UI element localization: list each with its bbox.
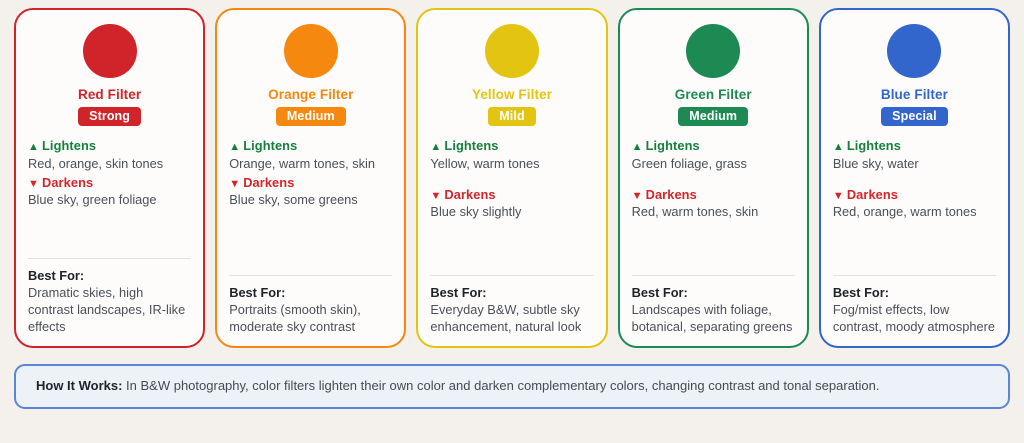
triangle-up-icon: ▲: [833, 141, 844, 153]
effects-section: ▲Lightens Yellow, warm tones ▼Darkens Bl…: [430, 138, 593, 221]
filter-card-orange[interactable]: Orange Filter Medium ▲Lightens Orange, w…: [215, 8, 406, 348]
flex-spacer: [833, 221, 996, 275]
blue-circle-swatch-icon: [887, 24, 941, 78]
lightens-label: Lightens: [847, 138, 901, 153]
darkens-heading: ▼Darkens: [833, 187, 996, 204]
triangle-down-icon: ▼: [833, 190, 844, 202]
darkens-block: ▼Darkens Blue sky, some greens: [229, 175, 392, 210]
lightens-heading: ▲Lightens: [28, 138, 191, 155]
red-circle-swatch-icon: [83, 24, 137, 78]
how-it-works-panel: How It Works: In B&W photography, color …: [14, 364, 1010, 409]
darkens-label: Darkens: [243, 175, 294, 190]
yellow-circle-swatch-icon: [485, 24, 539, 78]
darkens-block: ▼Darkens Blue sky slightly: [430, 187, 593, 222]
flex-spacer: [632, 221, 795, 275]
darkens-label: Darkens: [646, 187, 697, 202]
darkens-label: Darkens: [847, 187, 898, 202]
strength-badge: Strong: [78, 107, 141, 126]
darkens-heading: ▼Darkens: [430, 187, 593, 204]
filter-card-red[interactable]: Red Filter Strong ▲Lightens Red, orange,…: [14, 8, 205, 348]
lightens-heading: ▲Lightens: [430, 138, 593, 155]
triangle-down-icon: ▼: [229, 178, 240, 190]
badge-container: Medium: [632, 107, 795, 126]
darkens-text: Red, orange, warm tones: [833, 204, 996, 221]
best-for-label: Best For:: [833, 285, 996, 301]
triangle-up-icon: ▲: [430, 141, 441, 153]
flex-spacer: [28, 209, 191, 258]
darkens-heading: ▼Darkens: [632, 187, 795, 204]
effects-section: ▲Lightens Red, orange, skin tones ▼Darke…: [28, 138, 191, 209]
how-it-works-text: How It Works: In B&W photography, color …: [36, 377, 990, 395]
best-for-text: Fog/mist effects, low contrast, moody at…: [833, 302, 996, 336]
strength-badge: Medium: [678, 107, 748, 126]
darkens-label: Darkens: [42, 175, 93, 190]
darkens-text: Red, warm tones, skin: [632, 204, 795, 221]
lightens-label: Lightens: [243, 138, 297, 153]
darkens-text: Blue sky slightly: [430, 204, 593, 221]
badge-container: Mild: [430, 107, 593, 126]
badge-container: Medium: [229, 107, 392, 126]
lightens-text: Green foliage, grass: [632, 156, 795, 173]
best-for-text: Landscapes with foliage, botanical, sepa…: [632, 302, 795, 336]
darkens-heading: ▼Darkens: [28, 175, 191, 192]
best-for-text: Everyday B&W, subtle sky enhancement, na…: [430, 302, 593, 336]
how-it-works-heading: How It Works:: [36, 378, 122, 393]
best-for-label: Best For:: [430, 285, 593, 301]
effects-section: ▲Lightens Green foliage, grass ▼Darkens …: [632, 138, 795, 221]
darkens-text: Blue sky, green foliage: [28, 192, 191, 209]
swatch-container: [229, 24, 392, 78]
strength-badge: Special: [881, 107, 947, 126]
filter-comparison-board: Red Filter Strong ▲Lightens Red, orange,…: [0, 0, 1024, 443]
card-divider: [632, 275, 795, 276]
darkens-block: ▼Darkens Blue sky, green foliage: [28, 175, 191, 210]
triangle-up-icon: ▲: [229, 141, 240, 153]
card-divider: [28, 258, 191, 259]
green-circle-swatch-icon: [686, 24, 740, 78]
filter-title: Red Filter: [28, 87, 191, 102]
best-for-label: Best For:: [229, 285, 392, 301]
lightens-heading: ▲Lightens: [833, 138, 996, 155]
darkens-label: Darkens: [444, 187, 495, 202]
filter-title: Blue Filter: [833, 87, 996, 102]
triangle-down-icon: ▼: [632, 190, 643, 202]
filter-title: Yellow Filter: [430, 87, 593, 102]
lightens-text: Orange, warm tones, skin: [229, 156, 392, 173]
effects-section: ▲Lightens Orange, warm tones, skin ▼Dark…: [229, 138, 392, 209]
triangle-up-icon: ▲: [632, 141, 643, 153]
card-divider: [430, 275, 593, 276]
triangle-down-icon: ▼: [28, 178, 39, 190]
darkens-block: ▼Darkens Red, orange, warm tones: [833, 187, 996, 222]
filter-title: Orange Filter: [229, 87, 392, 102]
lightens-label: Lightens: [42, 138, 96, 153]
flex-spacer: [430, 221, 593, 275]
badge-container: Special: [833, 107, 996, 126]
strength-badge: Medium: [276, 107, 346, 126]
orange-circle-swatch-icon: [284, 24, 338, 78]
darkens-heading: ▼Darkens: [229, 175, 392, 192]
lightens-text: Blue sky, water: [833, 156, 996, 173]
filter-title: Green Filter: [632, 87, 795, 102]
best-for-label: Best For:: [632, 285, 795, 301]
best-for-label: Best For:: [28, 268, 191, 284]
strength-badge: Mild: [488, 107, 535, 126]
how-it-works-body: In B&W photography, color filters lighte…: [122, 378, 879, 393]
lightens-label: Lightens: [444, 138, 498, 153]
card-divider: [229, 275, 392, 276]
lightens-text: Red, orange, skin tones: [28, 156, 191, 173]
badge-container: Strong: [28, 107, 191, 126]
filter-card-yellow[interactable]: Yellow Filter Mild ▲Lightens Yellow, war…: [416, 8, 607, 348]
swatch-container: [833, 24, 996, 78]
swatch-container: [632, 24, 795, 78]
effects-section: ▲Lightens Blue sky, water ▼Darkens Red, …: [833, 138, 996, 221]
lightens-text: Yellow, warm tones: [430, 156, 593, 173]
lightens-label: Lightens: [646, 138, 700, 153]
lightens-heading: ▲Lightens: [229, 138, 392, 155]
best-for-text: Portraits (smooth skin), moderate sky co…: [229, 302, 392, 336]
card-divider: [833, 275, 996, 276]
filter-card-blue[interactable]: Blue Filter Special ▲Lightens Blue sky, …: [819, 8, 1010, 348]
swatch-container: [28, 24, 191, 78]
filter-cards-row: Red Filter Strong ▲Lightens Red, orange,…: [14, 8, 1010, 348]
flex-spacer: [229, 209, 392, 275]
darkens-text: Blue sky, some greens: [229, 192, 392, 209]
darkens-block: ▼Darkens Red, warm tones, skin: [632, 187, 795, 222]
lightens-heading: ▲Lightens: [632, 138, 795, 155]
triangle-down-icon: ▼: [430, 190, 441, 202]
best-for-text: Dramatic skies, high contrast landscapes…: [28, 285, 191, 336]
triangle-up-icon: ▲: [28, 141, 39, 153]
swatch-container: [430, 24, 593, 78]
filter-card-green[interactable]: Green Filter Medium ▲Lightens Green foli…: [618, 8, 809, 348]
